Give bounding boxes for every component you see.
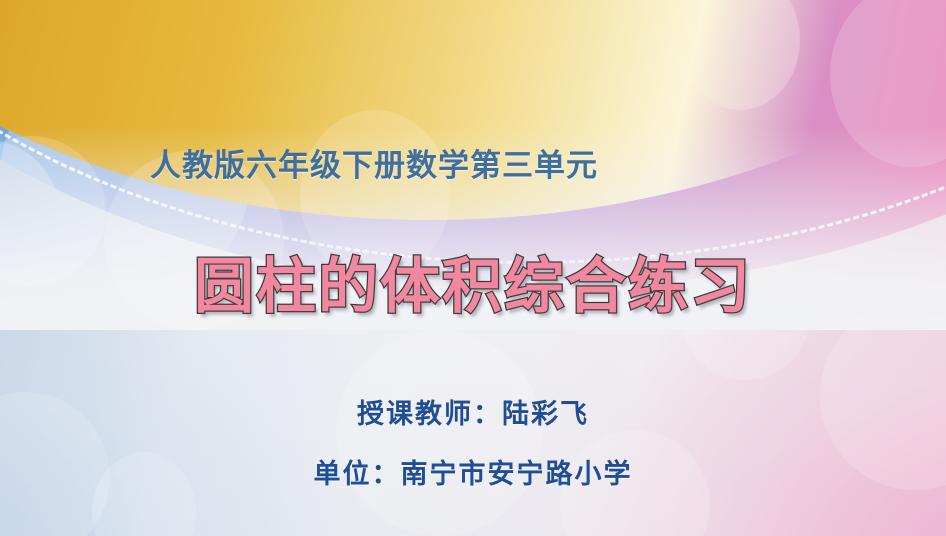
slide-content: 人教版六年级下册数学第三单元 圆柱的体积综合练习 授课教师：陆彩飞 单位：南宁市… [0,0,946,536]
presentation-slide: 人教版六年级下册数学第三单元 圆柱的体积综合练习 授课教师：陆彩飞 单位：南宁市… [0,0,946,536]
school-line: 单位：南宁市安宁路小学 [0,452,946,491]
teacher-line: 授课教师：陆彩飞 [0,392,946,431]
subject-heading: 人教版六年级下册数学第三单元 [150,140,598,185]
slide-title: 圆柱的体积综合练习 [0,238,946,325]
